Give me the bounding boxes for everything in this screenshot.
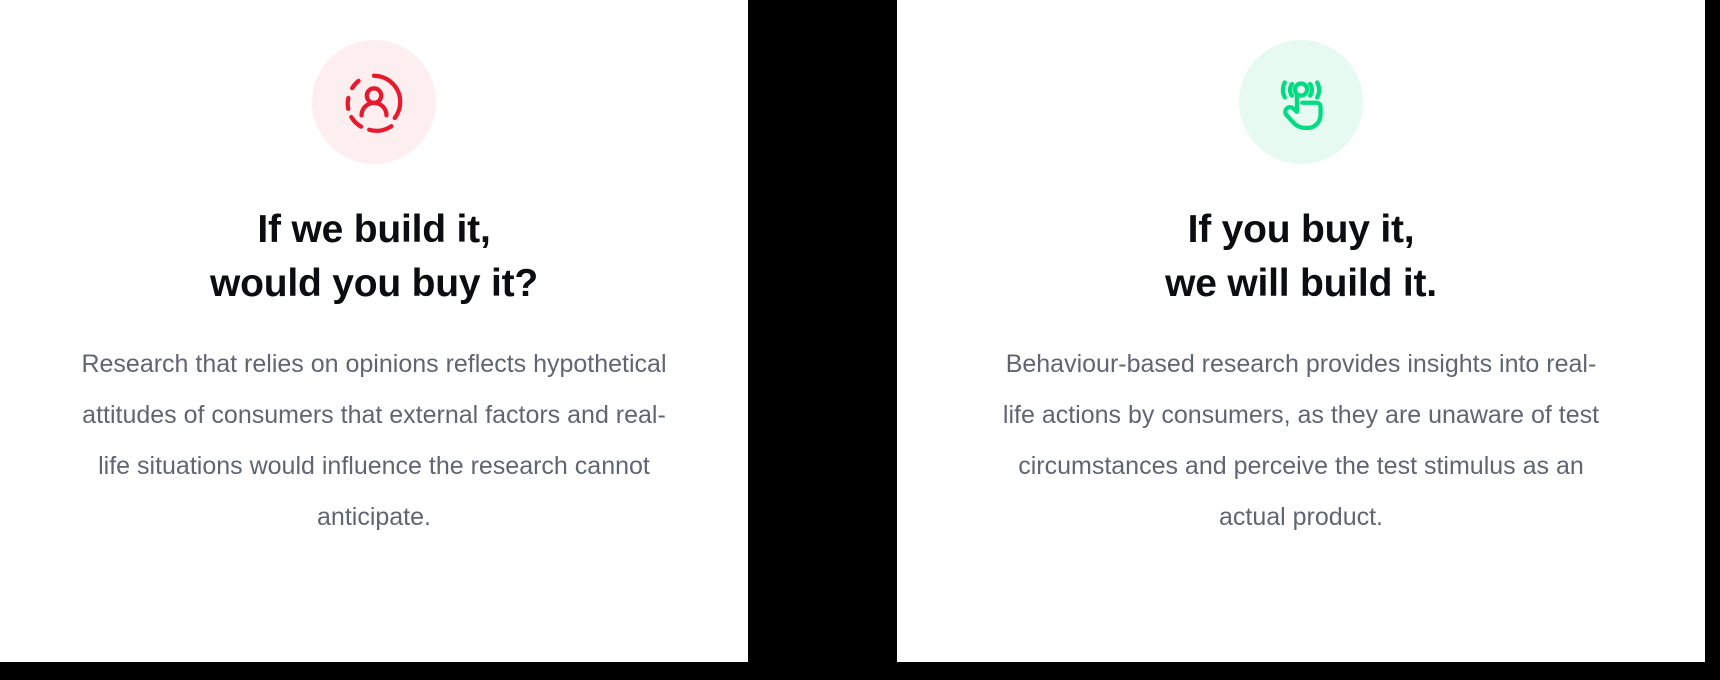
card-body-text: Research that relies on opinions reflect… [68,339,680,543]
page-right-edge-strip [1705,0,1720,680]
card-heading-line-1: If you buy it, [1165,203,1437,257]
card-heading-line-2: would you buy it? [210,257,538,311]
page-root: If we build it, would you buy it? Resear… [0,0,1720,680]
feature-card-build-it: If we build it, would you buy it? Resear… [0,0,748,662]
card-heading-line-1: If we build it, [210,203,538,257]
card-gap-divider [748,0,897,680]
card-heading: If we build it, would you buy it? [186,203,562,311]
tap-gesture-icon [1267,68,1335,136]
card-heading-line-2: we will build it. [1165,257,1437,311]
user-scan-icon [340,68,408,136]
feature-card-buy-it: If you buy it, we will build it. Behavio… [897,0,1705,662]
user-scan-icon-badge [312,40,436,164]
card-heading: If you buy it, we will build it. [1141,203,1461,311]
card-body-text: Behaviour-based research provides insigh… [991,339,1611,543]
tap-gesture-icon-badge [1239,40,1363,164]
page-bottom-edge-strip [0,662,1720,680]
